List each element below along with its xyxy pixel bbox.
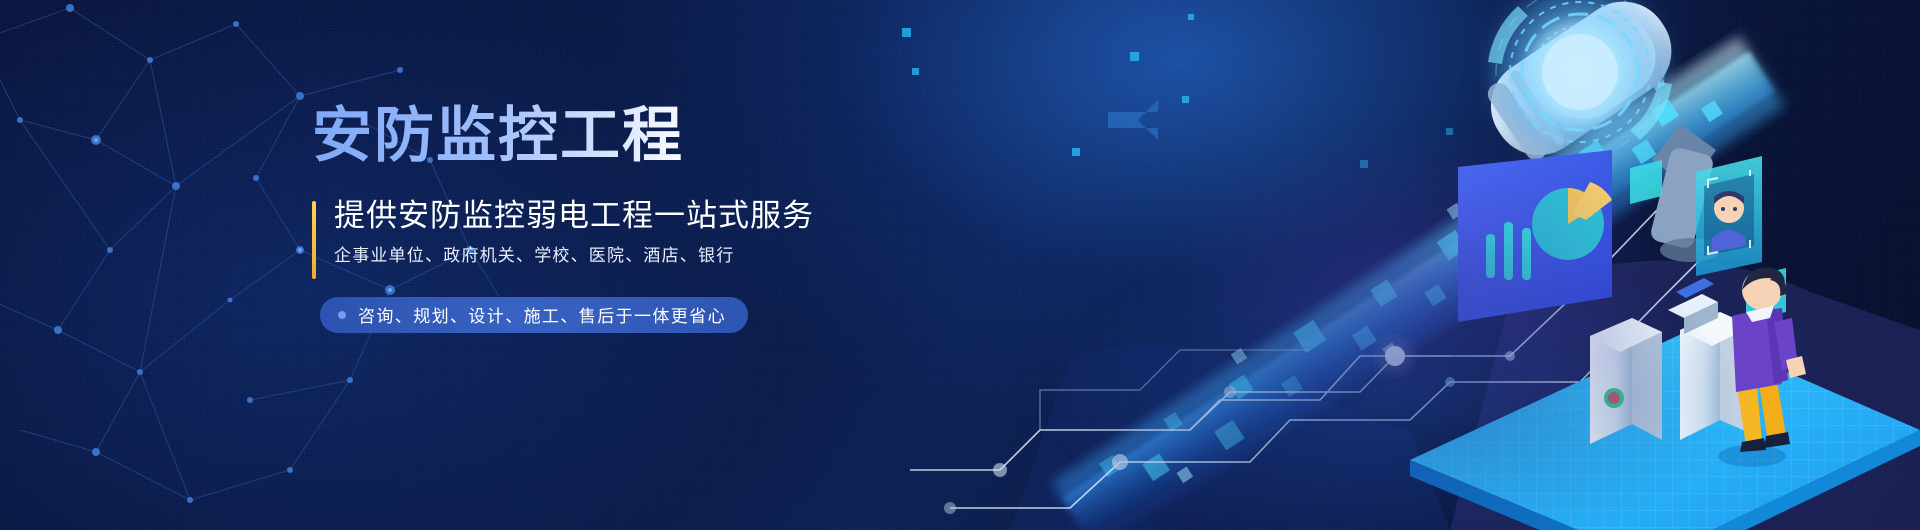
page-title: 安防监控工程 <box>312 104 932 169</box>
background-blob-purple <box>1160 130 1680 430</box>
audience-list: 企事业单位、政府机关、学校、医院、酒店、银行 <box>334 245 932 267</box>
accent-bar <box>312 201 316 279</box>
service-pill[interactable]: 咨询、规划、设计、施工、售后于一体更省心 <box>320 297 748 333</box>
security-banner: ஶ <box>0 0 1920 530</box>
subtitle: 提供安防监控弱电工程一站式服务 <box>334 197 932 236</box>
banner-copy: 安防监控工程 提供安防监控弱电工程一站式服务 企事业单位、政府机关、学校、医院、… <box>312 104 932 333</box>
pill-dot-icon <box>338 311 346 319</box>
pill-label: 咨询、规划、设计、施工、售后于一体更省心 <box>358 302 726 327</box>
subtitle-block: 提供安防监控弱电工程一站式服务 企事业单位、政府机关、学校、医院、酒店、银行 <box>312 197 932 267</box>
decor-arrow <box>1108 100 1158 140</box>
illustration: ஶ <box>890 0 1920 530</box>
